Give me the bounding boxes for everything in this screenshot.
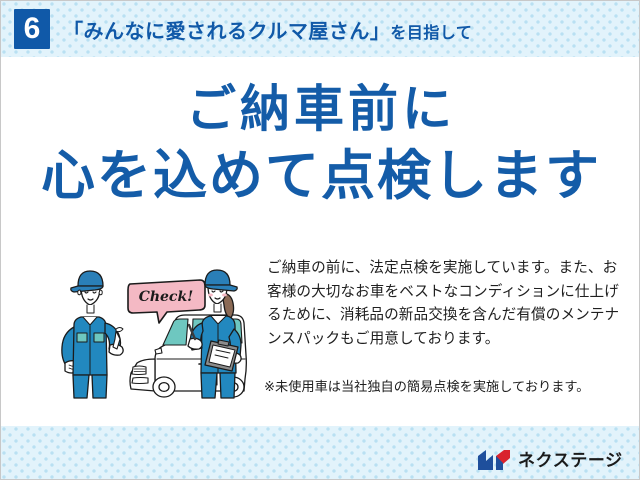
header: 6 「みんなに愛されるクルマ屋さん」を目指して: [1, 1, 640, 57]
step-number-badge: 6: [14, 9, 50, 49]
page-title-quoted: 「みんなに愛されるクルマ屋さん」: [63, 21, 390, 43]
page-title: 「みんなに愛されるクルマ屋さん」を目指して: [63, 15, 472, 44]
brand-logo: ネクステージ: [477, 449, 623, 471]
body-paragraph: ご納車の前に、法定点検を実施しています。また、お客様の大切なお車をベストなコンデ…: [267, 257, 623, 352]
flyer-page: 6 「みんなに愛されるクルマ屋さん」を目指して ご納車前に 心を込めて点検します…: [0, 0, 640, 480]
check-bubble-label: Check!: [139, 289, 194, 305]
page-title-suffix: を目指して: [390, 25, 472, 42]
headline-line-1: ご納車前に: [1, 79, 640, 140]
mechanic-left: [62, 271, 123, 398]
mechanics-illustration: Check!: [47, 263, 263, 399]
body-note: ※未使用車は当社独自の簡易点検を実施しております。: [264, 378, 634, 396]
brand-name: ネクステージ: [518, 452, 623, 469]
headline: ご納車前に 心を込めて点検します: [1, 79, 640, 210]
nextage-n-mark-icon: [477, 449, 511, 471]
headline-line-2: 心を込めて点検します: [1, 144, 640, 210]
